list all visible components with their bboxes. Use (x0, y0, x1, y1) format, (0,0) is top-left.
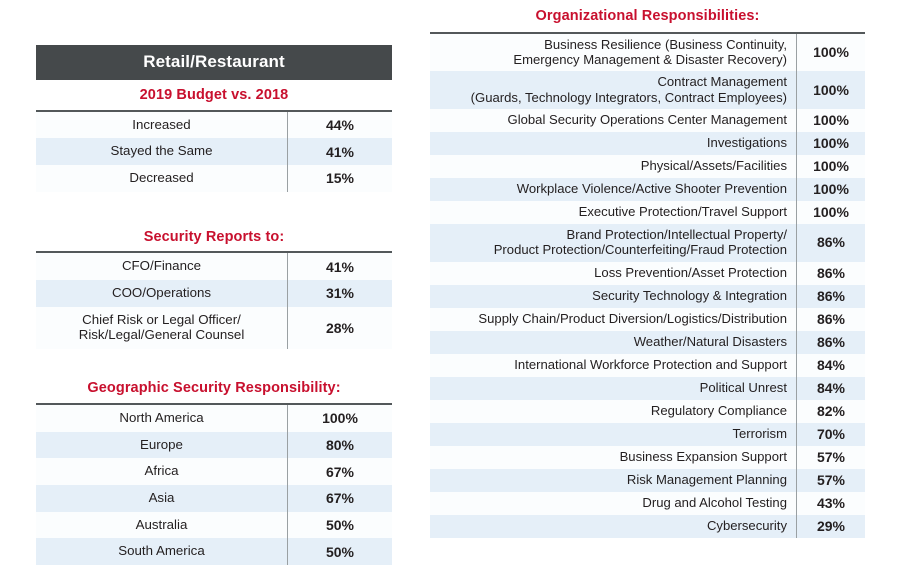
row-label: Brand Protection/Intellectual Property/P… (430, 224, 797, 262)
row-label: Physical/Assets/Facilities (430, 155, 797, 178)
row-label: Cybersecurity (430, 515, 797, 538)
row-value: 29% (797, 515, 866, 538)
section-spacer (36, 349, 392, 373)
row-label: International Workforce Protection and S… (430, 354, 797, 377)
row-label: Terrorism (430, 423, 797, 446)
table-row: Asia 67% (36, 485, 392, 512)
row-label: Weather/Natural Disasters (430, 331, 797, 354)
table-body: CFO/Finance 41% COO/Operations 31% Chief… (36, 252, 392, 349)
section-heading: 2019 Budget vs. 2018 (36, 80, 392, 110)
row-label: Executive Protection/Travel Support (430, 201, 797, 224)
geographic-table: North America 100% Europe 80% Africa 67%… (36, 403, 392, 565)
row-value: 84% (797, 377, 866, 400)
row-value: 31% (288, 280, 393, 307)
row-label: Stayed the Same (36, 138, 288, 165)
row-value: 41% (288, 252, 393, 280)
table-row: Regulatory Compliance82% (430, 400, 865, 423)
row-value: 41% (288, 138, 393, 165)
row-value: 50% (288, 538, 393, 565)
row-label: Increased (36, 111, 288, 139)
row-value: 100% (797, 201, 866, 224)
row-value: 84% (797, 354, 866, 377)
table-row: Workplace Violence/Active Shooter Preven… (430, 178, 865, 201)
row-label: Workplace Violence/Active Shooter Preven… (430, 178, 797, 201)
table-row: North America 100% (36, 404, 392, 432)
row-value: 100% (797, 33, 866, 72)
row-label: COO/Operations (36, 280, 288, 307)
row-label: Regulatory Compliance (430, 400, 797, 423)
row-label: Australia (36, 512, 288, 539)
row-value: 86% (797, 331, 866, 354)
section-heading: Geographic Security Responsibility: (36, 373, 392, 403)
table-row: Loss Prevention/Asset Protection86% (430, 262, 865, 285)
table-row: Stayed the Same 41% (36, 138, 392, 165)
row-label: Risk Management Planning (430, 469, 797, 492)
row-label: Security Technology & Integration (430, 285, 797, 308)
table-row: Decreased 15% (36, 165, 392, 192)
row-value: 86% (797, 262, 866, 285)
row-label: Drug and Alcohol Testing (430, 492, 797, 515)
section-spacer (36, 192, 392, 222)
left-section-0: 2019 Budget vs. 2018 Increased 44% Staye… (36, 80, 392, 192)
row-value: 100% (797, 71, 866, 109)
table-row: Increased 44% (36, 111, 392, 139)
table-row: Business Expansion Support57% (430, 446, 865, 469)
row-value: 86% (797, 308, 866, 331)
row-value: 43% (797, 492, 866, 515)
table-row: Chief Risk or Legal Officer/Risk/Legal/G… (36, 307, 392, 349)
section-heading: Security Reports to: (36, 222, 392, 252)
table-row: Security Technology & Integration86% (430, 285, 865, 308)
table-body: Business Resilience (Business Continuity… (430, 33, 865, 538)
organizational-responsibilities-panel: Organizational Responsibilities: Busines… (430, 8, 865, 538)
section-heading: Organizational Responsibilities: (430, 8, 865, 32)
row-value: 100% (797, 132, 866, 155)
responsibilities-table: Business Resilience (Business Continuity… (430, 32, 865, 538)
panel-title: Retail/Restaurant (36, 45, 392, 80)
row-value: 82% (797, 400, 866, 423)
table-row: Business Resilience (Business Continuity… (430, 33, 865, 72)
table-body: North America 100% Europe 80% Africa 67%… (36, 404, 392, 565)
table-row: Risk Management Planning57% (430, 469, 865, 492)
row-value: 50% (288, 512, 393, 539)
row-value: 80% (288, 432, 393, 459)
row-label: Supply Chain/Product Diversion/Logistics… (430, 308, 797, 331)
row-value: 100% (797, 109, 866, 132)
row-label: Decreased (36, 165, 288, 192)
reports-to-table: CFO/Finance 41% COO/Operations 31% Chief… (36, 251, 392, 349)
table-row: Weather/Natural Disasters86% (430, 331, 865, 354)
budget-table: Increased 44% Stayed the Same 41% Decrea… (36, 110, 392, 192)
row-label: Africa (36, 458, 288, 485)
row-value: 100% (288, 404, 393, 432)
table-row: Australia 50% (36, 512, 392, 539)
row-label: Chief Risk or Legal Officer/Risk/Legal/G… (36, 307, 288, 349)
row-value: 57% (797, 446, 866, 469)
row-label: Loss Prevention/Asset Protection (430, 262, 797, 285)
table-body: Increased 44% Stayed the Same 41% Decrea… (36, 111, 392, 192)
row-value: 70% (797, 423, 866, 446)
row-label: South America (36, 538, 288, 565)
table-row: Global Security Operations Center Manage… (430, 109, 865, 132)
table-row: COO/Operations 31% (36, 280, 392, 307)
table-row: Terrorism70% (430, 423, 865, 446)
table-row: Contract Management(Guards, Technology I… (430, 71, 865, 109)
retail-restaurant-panel: Retail/Restaurant 2019 Budget vs. 2018 I… (36, 45, 392, 565)
row-value: 44% (288, 111, 393, 139)
table-row: CFO/Finance 41% (36, 252, 392, 280)
table-row: International Workforce Protection and S… (430, 354, 865, 377)
row-value: 100% (797, 155, 866, 178)
row-value: 28% (288, 307, 393, 349)
table-row: South America 50% (36, 538, 392, 565)
table-row: Investigations100% (430, 132, 865, 155)
table-row: Political Unrest84% (430, 377, 865, 400)
row-label: Business Resilience (Business Continuity… (430, 33, 797, 72)
row-label: Global Security Operations Center Manage… (430, 109, 797, 132)
row-label: Europe (36, 432, 288, 459)
row-value: 100% (797, 178, 866, 201)
table-row: Executive Protection/Travel Support100% (430, 201, 865, 224)
row-label: Political Unrest (430, 377, 797, 400)
left-section-1: Security Reports to: CFO/Finance 41% COO… (36, 222, 392, 349)
table-row: Drug and Alcohol Testing43% (430, 492, 865, 515)
table-row: Brand Protection/Intellectual Property/P… (430, 224, 865, 262)
row-value: 15% (288, 165, 393, 192)
row-value: 57% (797, 469, 866, 492)
row-label: Contract Management(Guards, Technology I… (430, 71, 797, 109)
row-value: 86% (797, 224, 866, 262)
table-row: Supply Chain/Product Diversion/Logistics… (430, 308, 865, 331)
table-row: Cybersecurity29% (430, 515, 865, 538)
row-label: North America (36, 404, 288, 432)
table-row: Physical/Assets/Facilities100% (430, 155, 865, 178)
table-row: Europe 80% (36, 432, 392, 459)
row-value: 67% (288, 485, 393, 512)
row-label: Asia (36, 485, 288, 512)
row-value: 86% (797, 285, 866, 308)
row-label: Business Expansion Support (430, 446, 797, 469)
row-value: 67% (288, 458, 393, 485)
table-row: Africa 67% (36, 458, 392, 485)
row-label: Investigations (430, 132, 797, 155)
row-label: CFO/Finance (36, 252, 288, 280)
left-section-2: Geographic Security Responsibility: Nort… (36, 373, 392, 565)
